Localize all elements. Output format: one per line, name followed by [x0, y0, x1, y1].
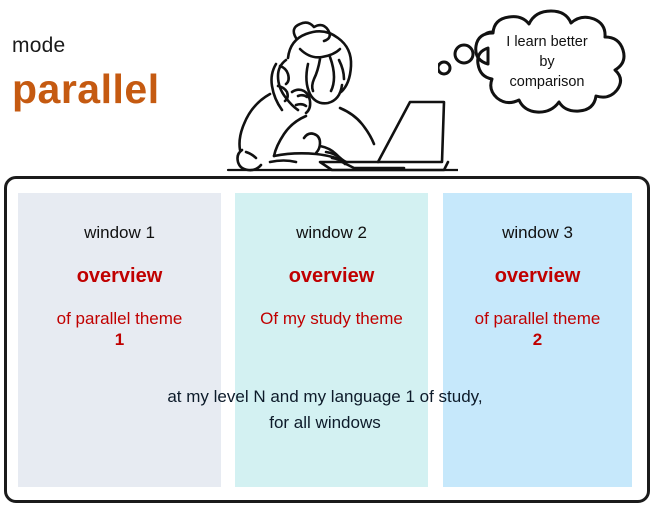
window-2-description: Of my study theme [235, 307, 428, 330]
thought-bubble-text: I learn better by comparison [452, 32, 642, 92]
window-column-3[interactable]: window 3 overview of parallel theme 2 [443, 193, 632, 487]
window-1-overview-title: overview [18, 265, 221, 288]
thought-bubble-line-2: by [452, 52, 642, 72]
thought-bubble-line-3: comparison [452, 72, 642, 92]
mode-label: mode [12, 34, 65, 58]
window-3-header: window 3 [443, 223, 632, 243]
person-studying-at-laptop-illustration [208, 2, 458, 174]
window-3-number: 2 [443, 330, 632, 350]
window-3-overview-title: overview [443, 265, 632, 288]
window-2-overview-title: overview [235, 265, 428, 288]
window-1-description: of parallel theme [18, 307, 221, 330]
window-column-1[interactable]: window 1 overview of parallel theme 1 [18, 193, 221, 487]
mode-value: parallel [12, 66, 160, 113]
thought-bubble-line-1: I learn better [452, 32, 642, 52]
windows-columns: window 1 overview of parallel theme 1 wi… [18, 193, 632, 487]
window-column-2[interactable]: window 2 overview Of my study theme [235, 193, 428, 487]
window-1-number: 1 [18, 330, 221, 350]
window-2-header: window 2 [235, 223, 428, 243]
window-3-description: of parallel theme [443, 307, 632, 330]
thought-dot-small [438, 62, 450, 74]
window-1-header: window 1 [18, 223, 221, 243]
header-area: mode parallel [0, 0, 656, 176]
